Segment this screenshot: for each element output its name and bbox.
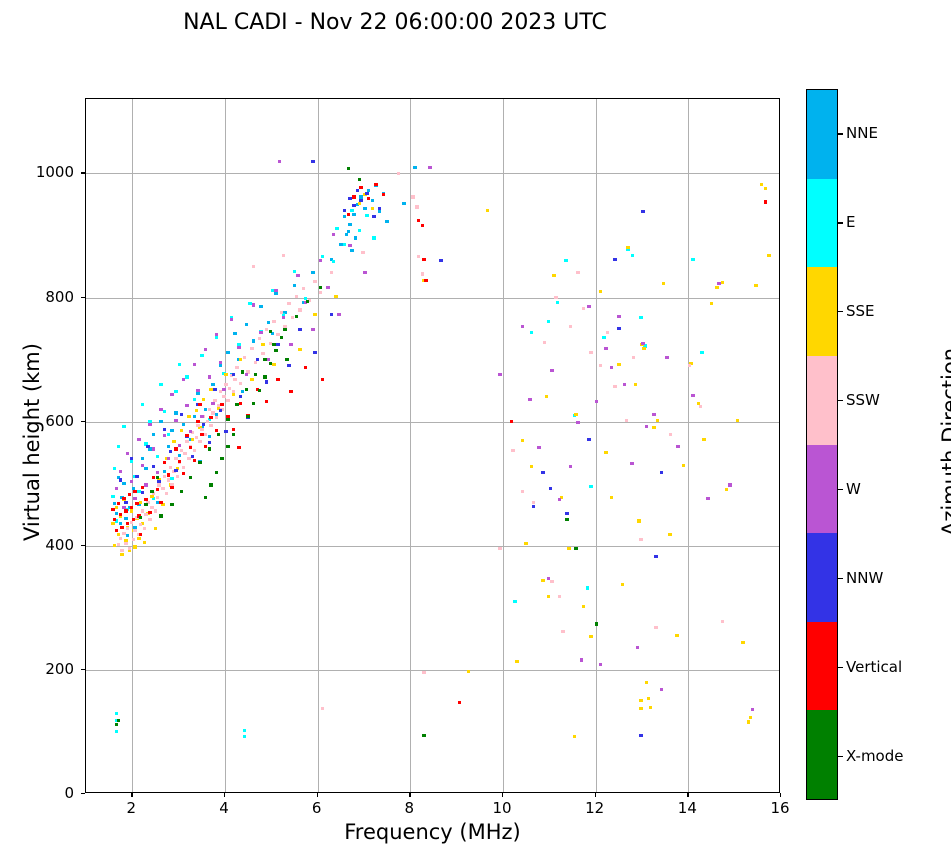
data-point: [274, 289, 277, 292]
x-axis-label: Frequency (MHz): [85, 820, 780, 844]
data-point: [156, 488, 159, 491]
x-tick-mark: [595, 793, 596, 797]
data-point: [224, 373, 227, 376]
data-point: [135, 475, 138, 478]
data-point: [124, 509, 127, 512]
data-point: [245, 388, 248, 391]
data-point: [311, 160, 314, 163]
data-point: [193, 459, 196, 462]
data-point: [632, 356, 635, 359]
data-point: [219, 409, 222, 412]
data-point: [700, 351, 703, 354]
data-point: [119, 522, 122, 525]
data-point: [736, 419, 739, 422]
data-point: [150, 506, 153, 509]
data-point: [226, 418, 229, 421]
data-point: [119, 537, 122, 540]
data-point: [189, 476, 192, 479]
data-point: [313, 313, 316, 316]
data-point: [196, 424, 199, 427]
data-point: [198, 440, 201, 443]
data-point: [760, 183, 763, 186]
data-point: [159, 383, 162, 386]
y-gridline: [86, 298, 779, 299]
data-point: [204, 433, 207, 436]
data-point: [269, 362, 272, 365]
data-point: [237, 446, 240, 449]
data-point: [261, 352, 264, 355]
y-gridline: [86, 173, 779, 174]
data-point: [159, 501, 162, 504]
data-point: [239, 402, 242, 405]
data-point: [174, 419, 177, 422]
data-point: [126, 527, 129, 530]
data-point: [185, 434, 188, 437]
x-tick-mark: [131, 793, 132, 797]
data-point: [124, 542, 127, 545]
data-point: [378, 210, 381, 213]
data-point: [699, 405, 702, 408]
data-point: [561, 630, 564, 633]
data-point: [195, 409, 198, 412]
data-point: [122, 506, 125, 509]
data-point: [639, 538, 642, 541]
data-point: [161, 487, 164, 490]
data-point: [319, 286, 322, 289]
x-tick-mark: [780, 793, 781, 797]
data-point: [272, 343, 275, 346]
plot-area: [85, 98, 780, 793]
data-point: [515, 660, 518, 663]
data-point: [213, 388, 216, 391]
data-point: [545, 395, 548, 398]
data-point: [182, 423, 185, 426]
colorbar-tick-mark: [838, 578, 843, 579]
data-point: [137, 438, 140, 441]
data-point: [209, 416, 212, 419]
data-point: [321, 255, 324, 258]
data-point: [120, 553, 123, 556]
data-point: [319, 291, 322, 294]
data-point: [183, 452, 186, 455]
data-point: [361, 251, 364, 254]
data-point: [219, 361, 222, 364]
data-point: [141, 491, 144, 494]
data-point: [302, 287, 305, 290]
data-point: [599, 663, 602, 666]
data-point: [211, 411, 214, 414]
data-point: [141, 486, 144, 489]
data-point: [652, 413, 655, 416]
colorbar-tick-mark: [838, 222, 843, 223]
data-point: [321, 378, 324, 381]
data-point: [347, 167, 350, 170]
data-point: [193, 363, 196, 366]
data-point: [228, 387, 231, 390]
data-point: [200, 428, 203, 431]
data-point: [144, 483, 147, 486]
data-point: [656, 419, 659, 422]
data-point: [159, 514, 162, 517]
data-point: [587, 305, 590, 308]
data-point: [402, 202, 405, 205]
data-point: [200, 433, 203, 436]
data-point: [243, 729, 246, 732]
data-point: [634, 383, 637, 386]
data-point: [652, 426, 655, 429]
data-point: [304, 366, 307, 369]
colorbar-segment-vertical: [807, 622, 837, 711]
y-tick-mark: [81, 297, 85, 298]
data-point: [295, 295, 298, 298]
colorbar-tick-label: NNW: [846, 569, 883, 587]
data-point: [354, 236, 357, 239]
data-point: [250, 347, 253, 350]
data-point: [148, 511, 151, 514]
data-point: [126, 522, 129, 525]
data-point: [665, 356, 668, 359]
data-point: [352, 213, 355, 216]
data-point: [306, 300, 309, 303]
data-point: [178, 363, 181, 366]
data-point: [111, 508, 114, 511]
y-gridline: [86, 546, 779, 547]
data-point: [230, 318, 233, 321]
x-gridline: [503, 99, 504, 792]
data-point: [267, 321, 270, 324]
data-point: [267, 358, 270, 361]
data-point: [567, 547, 570, 550]
data-point: [371, 199, 374, 202]
data-point: [764, 200, 767, 203]
data-point: [569, 465, 572, 468]
data-point: [330, 271, 333, 274]
y-gridline: [86, 422, 779, 423]
data-point: [156, 496, 159, 499]
data-point: [422, 671, 425, 674]
data-point: [660, 471, 663, 474]
data-point: [276, 378, 279, 381]
colorbar-tick-mark: [838, 400, 843, 401]
data-point: [582, 307, 585, 310]
data-point: [586, 586, 589, 589]
data-point: [170, 503, 173, 506]
data-point: [717, 282, 720, 285]
data-point: [113, 467, 116, 470]
data-point: [130, 457, 133, 460]
data-point: [250, 378, 253, 381]
data-point: [195, 436, 198, 439]
data-point: [139, 501, 142, 504]
data-point: [498, 373, 501, 376]
data-point: [358, 229, 361, 232]
data-point: [243, 356, 246, 359]
data-point: [174, 411, 177, 414]
data-point: [170, 477, 173, 480]
data-point: [122, 482, 125, 485]
data-point: [610, 496, 613, 499]
data-point: [133, 490, 136, 493]
data-point: [206, 420, 209, 423]
data-point: [334, 295, 337, 298]
data-point: [208, 447, 211, 450]
data-point: [261, 343, 264, 346]
data-point: [133, 526, 136, 529]
data-point: [272, 320, 275, 323]
data-point: [510, 420, 513, 423]
data-point: [547, 595, 550, 598]
data-point: [126, 534, 129, 537]
data-point: [154, 509, 157, 512]
data-point: [239, 395, 242, 398]
data-point: [332, 233, 335, 236]
data-point: [276, 343, 279, 346]
data-point: [751, 708, 754, 711]
data-point: [417, 255, 420, 258]
data-point: [574, 547, 577, 550]
data-point: [343, 243, 346, 246]
data-point: [208, 441, 211, 444]
data-point: [163, 434, 166, 437]
data-point: [141, 403, 144, 406]
data-point: [530, 465, 533, 468]
data-point: [458, 701, 461, 704]
data-point: [220, 403, 223, 406]
data-point: [165, 492, 168, 495]
data-point: [115, 506, 118, 509]
data-point: [558, 498, 561, 501]
data-point: [167, 445, 170, 448]
data-point: [157, 480, 160, 483]
data-point: [645, 681, 648, 684]
data-point: [120, 549, 123, 552]
y-tick-mark: [81, 545, 85, 546]
y-tick-mark: [81, 172, 85, 173]
data-point: [610, 366, 613, 369]
x-tick-label: 14: [667, 799, 707, 817]
colorbar-segment-ssw: [807, 356, 837, 445]
data-point: [150, 490, 153, 493]
data-point: [604, 347, 607, 350]
data-point: [606, 331, 609, 334]
data-point: [330, 313, 333, 316]
data-point: [613, 258, 616, 261]
data-point: [256, 358, 259, 361]
x-tick-mark: [502, 793, 503, 797]
data-point: [243, 735, 246, 738]
data-point: [547, 320, 550, 323]
data-point: [319, 259, 322, 262]
data-point: [641, 210, 644, 213]
data-point: [343, 209, 346, 212]
x-tick-label: 16: [760, 799, 800, 817]
data-point: [554, 296, 557, 299]
data-point: [617, 315, 620, 318]
x-tick-label: 12: [575, 799, 615, 817]
x-tick-label: 4: [204, 799, 244, 817]
x-gridline: [132, 99, 133, 792]
data-point: [363, 207, 366, 210]
data-point: [263, 375, 266, 378]
data-point: [295, 315, 298, 318]
data-point: [146, 445, 149, 448]
data-point: [208, 408, 211, 411]
data-point: [115, 723, 118, 726]
y-tick-mark: [81, 421, 85, 422]
data-point: [157, 483, 160, 486]
data-point: [252, 265, 255, 268]
data-point: [313, 351, 316, 354]
data-point: [172, 440, 175, 443]
data-point: [139, 523, 142, 526]
data-point: [350, 249, 353, 252]
data-point: [115, 529, 118, 532]
data-point: [204, 496, 207, 499]
data-point: [569, 325, 572, 328]
data-point: [595, 622, 598, 625]
data-point: [335, 227, 338, 230]
data-point: [547, 577, 550, 580]
colorbar-segment-w: [807, 445, 837, 534]
y-tick-label: 1000: [14, 163, 74, 181]
data-point: [587, 438, 590, 441]
data-point: [352, 195, 355, 198]
x-tick-mark: [224, 793, 225, 797]
data-point: [417, 219, 420, 222]
data-point: [691, 258, 694, 261]
data-point: [647, 697, 650, 700]
data-point: [296, 274, 299, 277]
data-point: [625, 419, 628, 422]
data-point: [124, 517, 127, 520]
data-point: [211, 383, 214, 386]
data-point: [537, 446, 540, 449]
data-point: [193, 449, 196, 452]
data-point: [220, 457, 223, 460]
data-point: [550, 580, 553, 583]
data-point: [259, 305, 262, 308]
data-point: [415, 205, 418, 208]
data-point: [185, 404, 188, 407]
data-point: [208, 375, 211, 378]
data-point: [245, 373, 248, 376]
colorbar-segment-nnw: [807, 533, 837, 622]
data-point: [178, 454, 181, 457]
data-point: [258, 389, 261, 392]
data-point: [421, 224, 424, 227]
data-point: [639, 316, 642, 319]
data-point: [252, 303, 255, 306]
data-point: [169, 450, 172, 453]
x-tick-mark: [687, 793, 688, 797]
colorbar-label: Azimuth Direction: [938, 292, 951, 592]
data-point: [233, 332, 236, 335]
data-point: [337, 313, 340, 316]
data-point: [122, 532, 125, 535]
data-point: [163, 428, 166, 431]
data-point: [122, 425, 125, 428]
data-point: [163, 410, 166, 413]
data-point: [196, 420, 199, 423]
data-point: [715, 286, 718, 289]
data-point: [293, 284, 296, 287]
data-point: [521, 439, 524, 442]
colorbar-tick-label: SSW: [846, 391, 880, 409]
colorbar-segment-nne: [807, 90, 837, 179]
data-point: [169, 466, 172, 469]
data-point: [413, 166, 416, 169]
data-point: [530, 331, 533, 334]
data-point: [269, 330, 272, 333]
y-tick-label: 0: [14, 784, 74, 802]
data-point: [174, 390, 177, 393]
data-point: [589, 351, 592, 354]
data-point: [602, 336, 605, 339]
data-point: [352, 204, 355, 207]
data-point: [422, 734, 425, 737]
data-point: [215, 413, 218, 416]
data-point: [710, 302, 713, 305]
data-point: [749, 716, 752, 719]
data-point: [252, 339, 255, 342]
colorbar-tick-label: E: [846, 213, 855, 231]
data-point: [721, 620, 724, 623]
data-point: [660, 688, 663, 691]
x-tick-label: 10: [482, 799, 522, 817]
data-point: [130, 509, 133, 512]
data-point: [180, 490, 183, 493]
x-gridline: [596, 99, 597, 792]
data-point: [274, 349, 277, 352]
data-point: [513, 600, 516, 603]
data-point: [272, 363, 275, 366]
data-point: [282, 254, 285, 257]
data-point: [130, 480, 133, 483]
data-point: [552, 274, 555, 277]
data-point: [198, 403, 201, 406]
data-point: [152, 465, 155, 468]
data-point: [202, 423, 205, 426]
data-point: [117, 719, 120, 722]
data-point: [359, 186, 362, 189]
data-point: [167, 433, 170, 436]
colorbar-tick-label: SSE: [846, 302, 875, 320]
data-point: [200, 354, 203, 357]
data-point: [298, 308, 301, 311]
data-point: [265, 400, 268, 403]
x-gridline: [688, 99, 689, 792]
data-point: [372, 236, 375, 239]
data-point: [498, 547, 501, 550]
data-point: [669, 433, 672, 436]
data-point: [589, 485, 592, 488]
data-point: [282, 316, 285, 319]
data-point: [180, 429, 183, 432]
data-point: [654, 555, 657, 558]
data-point: [111, 495, 114, 498]
data-point: [347, 230, 350, 233]
data-point: [676, 445, 679, 448]
data-point: [623, 383, 626, 386]
colorbar-tick-mark: [838, 756, 843, 757]
data-point: [289, 390, 292, 393]
data-point: [350, 209, 353, 212]
data-point: [154, 527, 157, 530]
x-tick-label: 6: [297, 799, 337, 817]
x-tick-label: 2: [111, 799, 151, 817]
data-point: [209, 424, 212, 427]
data-point: [311, 328, 314, 331]
